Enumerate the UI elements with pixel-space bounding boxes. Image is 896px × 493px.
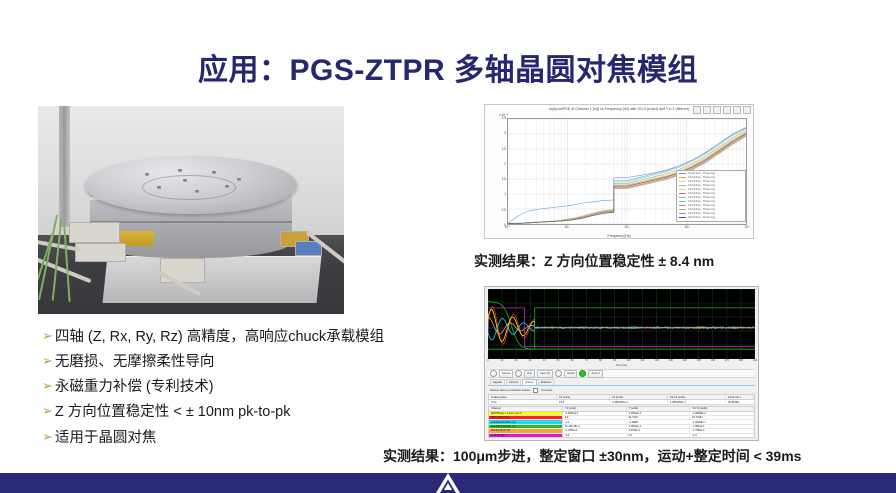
zoom-level[interactable]: Zoom 4	[588, 370, 603, 378]
legend-label: Ch1 8.4nm - Three-ring	[688, 188, 715, 191]
status-green-dot	[579, 370, 586, 377]
channel-name-cell: Feedback Position (X)	[489, 420, 563, 423]
legend-swatch	[679, 185, 686, 186]
legend-label: Ch1 8.4nm - Three-ring	[688, 180, 715, 183]
save-button[interactable]: Save (S)	[537, 370, 553, 378]
chart-legend: Ch1 8.4nm - Three-ringCh1 8.4nm - Three-…	[676, 170, 746, 222]
table-cell: 91.73161	[690, 416, 754, 419]
table-cell: 4.10612e-1	[627, 412, 691, 415]
chart-x-tick: 10²	[625, 225, 630, 229]
channel-name-cell: SRC/Phase 1 current pos X	[489, 412, 563, 415]
scope-x-tick: 150	[697, 359, 701, 362]
scope-x-tick: 130	[669, 359, 673, 362]
channel-name-cell: AUX I/O pin 1	[489, 434, 563, 437]
table-cell: 0.0	[627, 434, 691, 437]
channel-name-cell: Position Error (X)	[489, 429, 563, 432]
scope-subbar[interactable]: Restore History to Default Location Over…	[488, 387, 755, 393]
step-response-scope: Time (ms) 010203040506070809010011012013…	[484, 286, 759, 441]
bullet-text: 适用于晶圆对焦	[55, 429, 157, 447]
bullet-marker-icon: ➢	[42, 429, 53, 446]
chart-y-tick: 2	[504, 162, 506, 166]
caption-top-result: 实测结果：Z 方向位置稳定性 ± 8.4 nm	[474, 251, 714, 271]
table-cell: -1.0	[563, 434, 627, 437]
scope-plot-area	[488, 289, 755, 359]
legend-label: Ch1 8.4nm - Three-ring	[688, 208, 715, 211]
run-button[interactable]: Run	[524, 370, 535, 378]
slide-root: 应用：PGS-ZTPR 多轴晶圆对焦模组	[0, 0, 896, 493]
refresh-icon[interactable]	[515, 370, 522, 377]
caption-bottom-result: 实测结果：100μm步进，整定窗口 ±30nm，运动+整定时间 < 39ms	[383, 446, 801, 466]
product-photo	[38, 106, 344, 314]
chart-y-tick: 2.5	[502, 147, 506, 151]
scope-x-tick: 100	[626, 359, 630, 362]
chart-y-tick: 1	[504, 192, 506, 196]
legend-swatch	[679, 173, 686, 174]
scope-x-tick: 10	[501, 359, 504, 362]
overwrite-checkbox[interactable]	[533, 388, 538, 393]
chart-x-ticks: 10⁰10¹10²10³10⁴	[507, 225, 747, 232]
bullet-marker-icon: ➢	[42, 353, 53, 370]
scope-x-tick: 110	[641, 359, 645, 362]
list-item: ➢ 适用于晶圆对焦	[42, 429, 462, 447]
bullet-marker-icon: ➢	[42, 378, 53, 395]
chart-y-tick: 3	[504, 131, 506, 135]
scope-x-tick: 90	[613, 359, 616, 362]
table-cell: 1.0881150e-1	[668, 400, 726, 404]
table-cell: -1.7280e-4	[690, 429, 754, 432]
legend-swatch	[679, 189, 686, 190]
chart-x-tick: 10⁴	[744, 225, 749, 229]
column-header: X1 (units)	[557, 395, 610, 399]
autofit-button[interactable]: Autofit	[564, 370, 577, 378]
column-header: X2-X1 (units)	[668, 395, 726, 399]
table-cell: 25.8648(1	[726, 400, 754, 404]
scope-toolbar[interactable]: Source Run Save (S) Autofit Zoom 4	[488, 369, 755, 378]
delta-triangle-logo	[427, 471, 469, 493]
scope-svg	[488, 289, 755, 359]
table-cell: -4.10612e-1	[563, 412, 627, 415]
column-header: X2 (units)	[610, 395, 668, 399]
bullet-text: Z 方向位置稳定性 < ± 10nm pk-to-pk	[55, 403, 291, 421]
legend-swatch	[679, 197, 686, 198]
column-header: 1/(X2-X1) (...	[726, 395, 754, 399]
legend-swatch	[679, 209, 686, 210]
table-cell: -1.92536e-4	[690, 412, 754, 415]
legend-label: Ch1 8.4nm - Three-ring	[688, 212, 715, 215]
legend-label: Ch1 8.4nm - Three-ring	[688, 192, 715, 195]
tab-history[interactable]: History	[522, 379, 536, 386]
scope-x-tick: 190	[753, 359, 757, 362]
chart-y-ticks: 00.511.522.533.5	[491, 118, 506, 225]
legend-swatch	[679, 201, 686, 202]
legend-label: Ch1 8.4nm - Three-ring	[688, 196, 715, 199]
photo-connector-left	[69, 222, 120, 243]
table-cell: -7.0861e-1	[690, 425, 754, 428]
legend-swatch	[679, 217, 686, 218]
column-header: X data (units)	[489, 395, 557, 399]
legend-label: Ch1 8.4nm - Three-ring	[688, 176, 715, 179]
legend-label: Ch1 8.4nm - Three-ring	[688, 200, 715, 203]
scope-tab-bar[interactable]: SignalsCursorsHistoryStatistics	[488, 379, 755, 386]
scope-x-axis-label: Time (ms)	[488, 364, 755, 367]
column-header: Y2-Y1 (units)	[690, 407, 754, 411]
legend-swatch	[679, 193, 686, 194]
column-header: Channel	[489, 407, 563, 411]
chart-title: sqrt(cumPSD of Channel 1 [m]) vs Frequen…	[485, 107, 753, 111]
feature-bullet-list: ➢ 四轴 (Z, Rx, Ry, Rz) 高精度，高响应chuck承载模组 ➢ …	[42, 328, 462, 454]
channel-name-cell: SRC current [A]	[489, 416, 563, 419]
table-cell: -1.0	[690, 434, 754, 437]
table-cell: -1.60815e-1	[690, 420, 754, 423]
scope-x-tick: 180	[739, 359, 743, 362]
footer-bar	[0, 473, 896, 493]
chart-y-tick: 3.5	[502, 116, 506, 120]
channel-name-cell: Feedback Velocity (X)	[489, 425, 563, 428]
table-cell: 0.0	[563, 416, 627, 419]
bullet-marker-icon: ➢	[42, 328, 53, 345]
list-item: ➢ 永磁重力补偿 (专利技术)	[42, 378, 462, 396]
scope-x-axis: Time (ms) 010203040506070809010011012013…	[488, 359, 755, 369]
list-item: ➢ Z 方向位置稳定性 < ± 10nm pk-to-pk	[42, 403, 462, 421]
bullet-text: 永磁重力补偿 (专利技术)	[55, 378, 214, 396]
scope-x-tick: 60	[571, 359, 574, 362]
table-cell: -1.7280e-4	[563, 429, 627, 432]
table-cell: 1.0881150e-1	[610, 400, 668, 404]
restore-history-link[interactable]: Restore History to Default Location	[490, 389, 530, 392]
column-header: Y1 (units)	[563, 407, 627, 411]
scope-x-tick: 70	[585, 359, 588, 362]
legend-swatch	[679, 205, 686, 206]
scope-x-tick: 30	[529, 359, 532, 362]
table-cell: 4e-126.18e-1	[563, 425, 627, 428]
table-cell: 91.7316	[627, 416, 691, 419]
list-item: ➢ 四轴 (Z, Rx, Ry, Rz) 高精度，高响应chuck承载模组	[42, 328, 462, 346]
scope-x-tick: 80	[599, 359, 602, 362]
chart-x-tick: 10¹	[565, 225, 570, 229]
gear-icon[interactable]	[490, 370, 497, 377]
chart-x-axis-label: Frequency [Hz]	[485, 234, 753, 238]
chart-x-tick: 10³	[685, 225, 690, 229]
tab-signals[interactable]: Signals	[490, 379, 505, 386]
chart-x-tick: 10⁰	[504, 225, 509, 229]
table-cell: 19.8	[557, 400, 610, 404]
table-cell: 1.4780e-3	[627, 429, 691, 432]
table-cell: Time	[489, 400, 557, 404]
scope-time-row: Time19.81.0881150e-11.0881150e-125.8648(…	[488, 400, 755, 405]
table-cell: 1.16021e-1	[627, 425, 691, 428]
list-item: ➢ 无磨损、无摩擦柔性导向	[42, 353, 462, 371]
legend-entry: Ch1 8.4nm - Three-ring	[679, 216, 743, 220]
bullet-text: 无磨损、无摩擦柔性导向	[55, 353, 215, 371]
bullet-text: 四轴 (Z, Rx, Ry, Rz) 高精度，高响应chuck承载模组	[55, 328, 384, 346]
photo-top-ring	[142, 175, 236, 200]
legend-label: Ch1 8.4nm - Three-ring	[688, 204, 715, 207]
scope-x-tick: 40	[543, 359, 546, 362]
table-cell: -1.30881	[627, 420, 691, 423]
page-title: 应用：PGS-ZTPR 多轴晶圆对焦模组	[0, 45, 896, 89]
legend-swatch	[679, 181, 686, 182]
column-header: Y (units)	[627, 407, 691, 411]
table-cell: -1.1	[563, 420, 627, 423]
tab-statistics[interactable]: Statistics	[538, 379, 555, 386]
chart-y-tick: 0.5	[502, 208, 506, 212]
overwrite-label: Overwrite	[541, 389, 552, 392]
scope-x-tick: 160	[711, 359, 715, 362]
photo-base-plate	[103, 256, 322, 303]
tab-cursors[interactable]: Cursors	[506, 379, 521, 386]
legend-label: Ch1 8.4nm - Three-ring	[688, 216, 715, 219]
photo-connector-left2	[75, 243, 126, 262]
legend-label: Ch1 8.4nm - Three-ring	[688, 172, 715, 175]
photo-support-post	[59, 106, 69, 227]
scope-x-tick: 120	[654, 359, 658, 362]
scope-x-tick: 50	[557, 359, 560, 362]
scope-channel-table: SRC/Phase 1 current pos X-4.10612e-14.10…	[488, 412, 755, 439]
legend-swatch	[679, 177, 686, 178]
bullet-marker-icon: ➢	[42, 403, 53, 420]
chart-y-tick: 1.5	[502, 177, 506, 181]
settings-icon[interactable]	[555, 370, 562, 377]
legend-swatch	[679, 213, 686, 214]
source-select[interactable]: Source	[499, 370, 513, 378]
scope-x-tick: 20	[515, 359, 518, 362]
scope-x-tick: 0	[487, 359, 488, 362]
cumulative-psd-chart: sqrt(cumPSD of Channel 1 [m]) vs Frequen…	[484, 104, 754, 239]
scope-x-tick: 170	[725, 359, 729, 362]
scope-x-tick: 140	[683, 359, 687, 362]
legend-label: Ch1 8.4nm - Three-ring	[688, 184, 715, 187]
